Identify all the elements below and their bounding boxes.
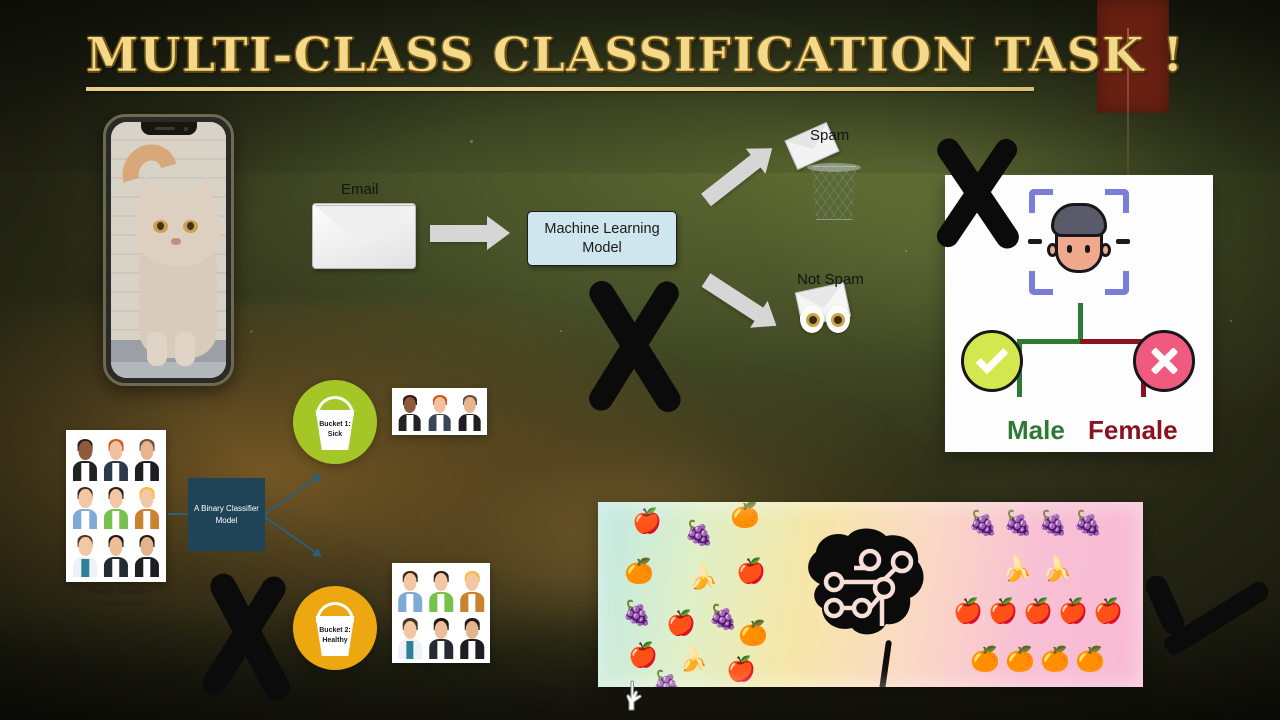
binary-classifier-model-box: A Binary Classifier Model	[188, 478, 265, 551]
avatar	[427, 567, 455, 612]
phone-screen	[111, 122, 226, 378]
fruit-banana: 🍌	[678, 648, 708, 672]
male-label: Male	[1007, 415, 1065, 446]
sick-people-card	[392, 388, 487, 435]
scan-corner	[1029, 271, 1053, 295]
fruit-grapes: 🍇	[968, 512, 998, 536]
fruit-apple: 🍎	[726, 658, 756, 682]
trash-bin-body	[810, 166, 858, 220]
iris	[831, 313, 845, 327]
fruit-orange: 🍊	[1075, 648, 1105, 672]
fruit-banana: 🍌	[1002, 558, 1032, 582]
fruit-multiclass-panel: 🍎 🍇 🍊 🍊 🍌 🍎 🍇 🍎 🍇 🍊 🍎 🍌 🍎 🍇	[598, 502, 1143, 687]
trash-bin-icon	[806, 158, 862, 220]
bucket-1-label: Bucket 1: Sick	[313, 410, 357, 450]
female-label: Female	[1088, 415, 1178, 446]
face-eye	[1085, 245, 1090, 253]
cat-eye	[183, 220, 198, 233]
avatar	[458, 615, 486, 660]
avatar	[456, 392, 483, 431]
face-icon	[1051, 201, 1107, 273]
cat-head	[135, 190, 221, 266]
healthy-people-card	[392, 563, 490, 663]
fruit-apple: 🍎	[628, 644, 658, 668]
background-speck	[1230, 320, 1232, 322]
face-hair	[1051, 203, 1107, 237]
slide-canvas: MULTI-CLASS CLASSIFICATION TASK ! Email	[0, 0, 1280, 720]
fruit-apple: 🍎	[953, 600, 983, 624]
avatar	[71, 483, 100, 529]
x-mark-email-flow	[552, 272, 702, 422]
brain-svg	[796, 522, 931, 647]
pointing-hand-cursor	[624, 680, 648, 712]
patients-baseline-grid	[66, 430, 166, 582]
face-scan-icon	[1029, 189, 1129, 295]
cursor-svg	[624, 680, 648, 712]
fruit-grapes: 🍇	[652, 672, 682, 687]
avatar	[102, 483, 131, 529]
cat-leg	[175, 332, 195, 366]
cat-nose	[171, 238, 181, 245]
branch-trunk	[1078, 303, 1083, 341]
avatar	[71, 435, 100, 481]
avatar	[458, 567, 486, 612]
background-speck	[250, 330, 253, 333]
fruit-apple: 🍎	[988, 600, 1018, 624]
face-ear	[1100, 243, 1111, 257]
eye-right	[826, 305, 850, 333]
iris	[806, 313, 820, 327]
not-spam-label: Not Spam	[797, 271, 864, 288]
fruit-apple: 🍎	[1058, 600, 1088, 624]
check-circle-icon	[961, 330, 1023, 392]
face-ear	[1047, 243, 1058, 257]
fruit-orange: 🍊	[624, 560, 654, 584]
fruit-grapes: 🍇	[1073, 512, 1103, 536]
x-mark-binary-classifier	[178, 566, 308, 706]
fruit-orange: 🍊	[738, 622, 768, 646]
fruit-orange: 🍊	[1005, 648, 1035, 672]
background-speck	[470, 140, 473, 143]
check-glyph	[976, 342, 1009, 375]
check-mark-fruit-panel	[1128, 548, 1256, 668]
fruit-apple: 🍎	[736, 560, 766, 584]
fruit-apple: 🍎	[632, 510, 662, 534]
fruit-orange: 🍊	[1040, 648, 1070, 672]
avatar	[132, 531, 161, 577]
eye-left	[800, 305, 824, 333]
fruit-apple: 🍎	[1093, 600, 1123, 624]
spam-label: Spam	[810, 127, 849, 144]
ai-brain-circuit-icon	[796, 522, 931, 647]
fruit-banana: 🍌	[1042, 558, 1072, 582]
avatar	[132, 483, 161, 529]
scan-dash	[1116, 239, 1130, 244]
avatar	[71, 531, 100, 577]
eyes-icon	[800, 305, 856, 333]
cat-eye	[153, 220, 168, 233]
fruit-grapes: 🍇	[622, 602, 652, 626]
x-circle-icon	[1133, 330, 1195, 392]
fruit-grapes: 🍇	[708, 606, 738, 630]
right-arrow-icon	[430, 225, 488, 242]
classifier-input-arrow	[168, 513, 190, 515]
machine-learning-model-box: Machine Learning Model	[527, 211, 677, 266]
branch-left-horizontal	[1017, 339, 1081, 344]
avatar	[426, 392, 453, 431]
bucket-1-sick: Bucket 1: Sick	[293, 380, 377, 464]
slide-title-block: MULTI-CLASS CLASSIFICATION TASK !	[86, 28, 1056, 91]
phone-camera	[184, 127, 188, 131]
cat-leg	[147, 332, 167, 366]
avatar	[396, 615, 424, 660]
background-speck	[905, 250, 907, 252]
patients-caption: Patients' Baseline Characteristics	[60, 586, 175, 610]
fruit-banana: 🍌	[688, 566, 718, 590]
fruit-grapes: 🍇	[1003, 512, 1033, 536]
face-eye	[1067, 245, 1072, 253]
avatar	[132, 435, 161, 481]
cat-photo-floor-front	[111, 362, 226, 378]
avatar	[396, 392, 423, 431]
phone-notch	[141, 122, 197, 135]
phone-speaker	[155, 127, 175, 130]
fruit-apple: 🍎	[666, 612, 696, 636]
scan-corner	[1105, 189, 1129, 213]
fruit-grapes: 🍇	[684, 522, 714, 546]
bucket-2-label: Bucket 2: Healthy	[313, 616, 357, 656]
avatar	[427, 615, 455, 660]
avatar	[396, 567, 424, 612]
fruit-orange: 🍊	[970, 648, 1000, 672]
fruit-apple: 🍎	[1023, 600, 1053, 624]
trash-bin-rim	[807, 163, 861, 172]
branch-right-horizontal	[1080, 339, 1146, 344]
page-title: MULTI-CLASS CLASSIFICATION TASK !	[86, 28, 1056, 83]
fruit-grapes: 🍇	[1038, 512, 1068, 536]
x-mark-gender-panel	[912, 130, 1034, 258]
avatar	[102, 531, 131, 577]
title-underline	[86, 87, 1034, 91]
envelope-icon	[312, 203, 416, 269]
fruit-orange: 🍊	[730, 504, 760, 528]
avatar	[102, 435, 131, 481]
scan-corner	[1105, 271, 1129, 295]
x-glyph	[1148, 345, 1180, 377]
cat-photo-phone	[103, 114, 234, 386]
email-label: Email	[341, 181, 379, 198]
